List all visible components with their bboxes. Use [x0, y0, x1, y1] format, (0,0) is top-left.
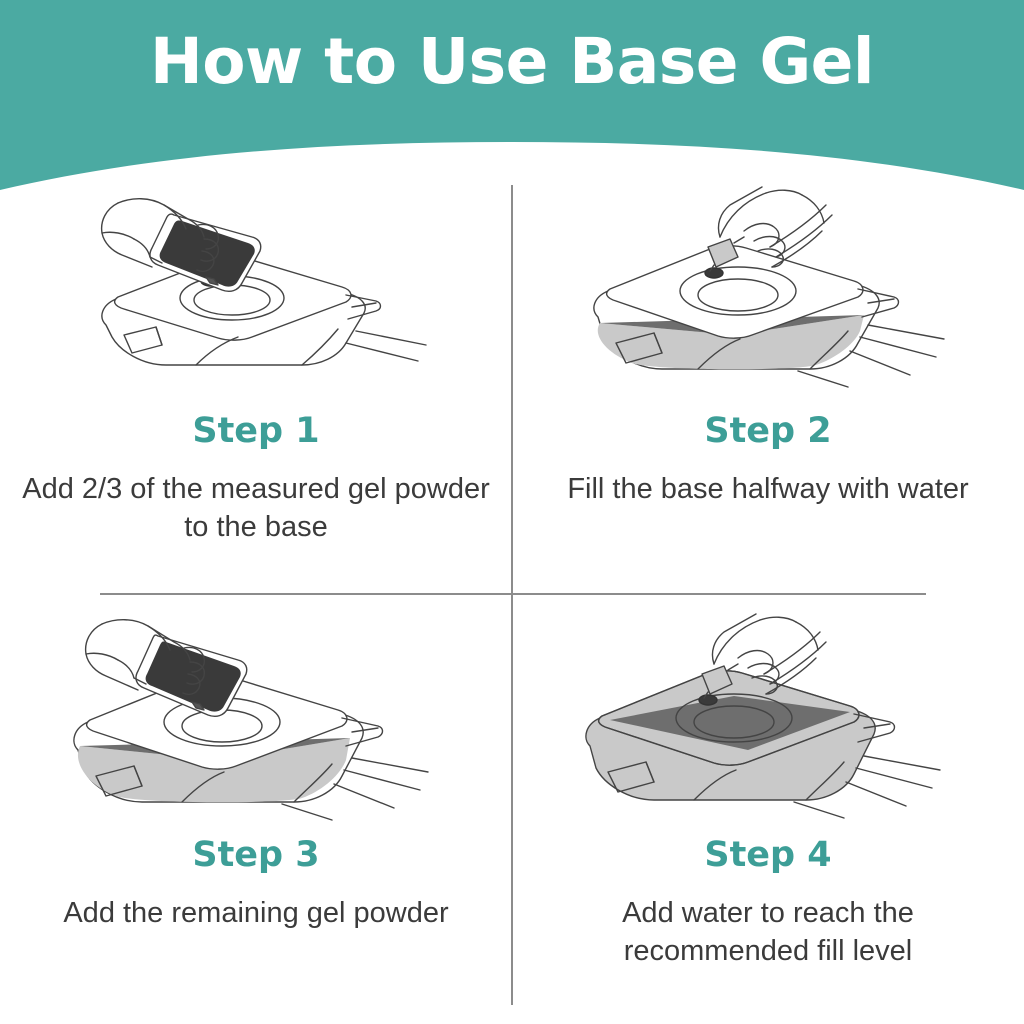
step-2-illustration [558, 185, 978, 400]
step-cell-4: Step 4 Add water to reach the recommende… [512, 600, 1024, 970]
step-3-title: Step 3 [192, 838, 319, 873]
step-4-illustration [558, 600, 978, 828]
step-cell-2: Step 2 Fill the base halfway with water [512, 185, 1024, 509]
header-banner: How to Use Base Gel [0, 0, 1024, 200]
step-4-title: Step 4 [704, 838, 831, 873]
step-3-description: Add the remaining gel powder [21, 895, 491, 933]
step-2-title: Step 2 [704, 414, 831, 449]
step-cell-3: Step 3 Add the remaining gel powder [0, 600, 512, 933]
step-4-description: Add water to reach the recommended fill … [533, 895, 1003, 970]
divider-horizontal [100, 593, 926, 595]
step-1-title: Step 1 [192, 414, 319, 449]
page-title: How to Use Base Gel [0, 30, 1024, 93]
step-1-illustration [46, 185, 466, 400]
step-cell-1: Step 1 Add 2/3 of the measured gel powde… [0, 185, 512, 546]
step-3-illustration [46, 600, 466, 828]
step-1-description: Add 2/3 of the measured gel powder to th… [21, 471, 491, 546]
step-2-description: Fill the base halfway with water [533, 471, 1003, 509]
